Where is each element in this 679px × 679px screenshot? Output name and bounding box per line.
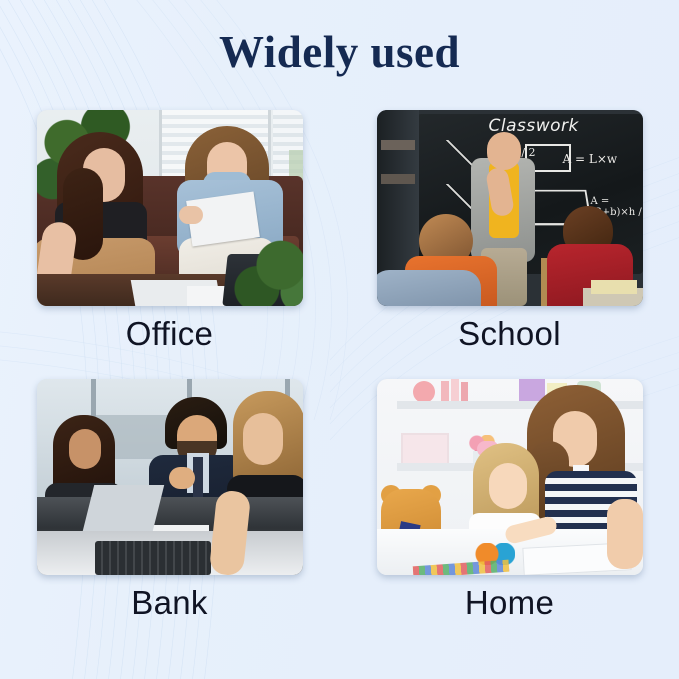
scene-bank <box>37 379 303 575</box>
card-home[interactable]: Home <box>377 379 643 622</box>
scene-school: Classwork b×h / 2 A = L×w A = (B+b)×h / … <box>377 110 643 306</box>
bank-woman1-face <box>69 429 101 469</box>
bank-laptop-keyboard <box>95 541 211 575</box>
school-books <box>591 280 637 294</box>
bank-woman2-face <box>243 413 283 465</box>
school-student3-back <box>377 270 481 306</box>
page-title: Widely used <box>0 26 679 78</box>
office-woman2-hand <box>179 206 203 224</box>
home-shelf-book-2 <box>451 379 459 403</box>
scene-home <box>377 379 643 575</box>
card-bank[interactable]: Bank <box>37 379 303 622</box>
school-shelf-lower <box>381 174 415 184</box>
home-shelf-book-3 <box>461 382 468 403</box>
card-image-office[interactable] <box>37 110 303 306</box>
bank-man-hand <box>169 467 195 489</box>
card-caption-bank: Bank <box>37 584 303 622</box>
cards-row-top: Office Classwork b×h / 2 <box>0 110 679 353</box>
page-root: Widely used <box>0 0 679 679</box>
cards-row-bottom: Bank <box>0 379 679 622</box>
card-caption-home: Home <box>377 584 643 622</box>
home-mother-arm <box>607 499 643 569</box>
office-plant-right <box>233 234 303 306</box>
home-shelf-book-1 <box>441 381 449 403</box>
cards-grid: Office Classwork b×h / 2 <box>0 110 679 622</box>
scene-office <box>37 110 303 306</box>
card-image-school[interactable]: Classwork b×h / 2 A = L×w A = (B+b)×h / … <box>377 110 643 306</box>
school-shelf-upper <box>381 140 415 150</box>
card-image-home[interactable] <box>377 379 643 575</box>
card-caption-office: Office <box>37 315 303 353</box>
card-caption-school: School <box>377 315 643 353</box>
school-teacher-head <box>487 132 521 170</box>
blackboard-formula-2: A = L×w <box>563 152 618 166</box>
home-apple-decor <box>413 381 435 403</box>
card-office[interactable]: Office <box>37 110 303 353</box>
card-image-bank[interactable] <box>37 379 303 575</box>
home-girl-face <box>489 463 527 509</box>
card-school[interactable]: Classwork b×h / 2 A = L×w A = (B+b)×h / … <box>377 110 643 353</box>
